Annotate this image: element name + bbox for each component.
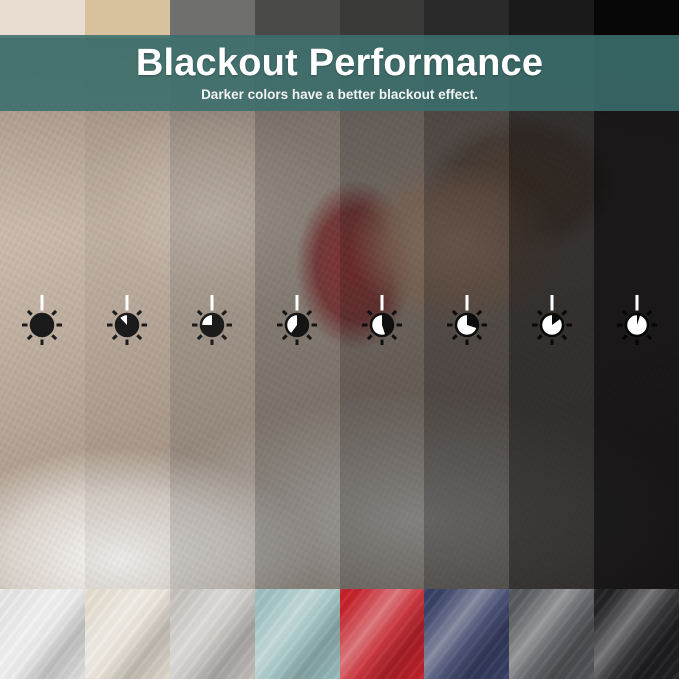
sun-brightness-icon bbox=[85, 285, 170, 365]
column-white-top-strip bbox=[0, 0, 85, 38]
sun-brightness-icon bbox=[0, 285, 85, 365]
sun-brightness-icon bbox=[340, 285, 425, 365]
column-charcoal-top-strip bbox=[509, 0, 594, 38]
fabric-swatch-row bbox=[0, 589, 679, 679]
column-grey-fabric-swatch bbox=[170, 589, 255, 679]
blackout-performance-infographic: Blackout Performance Darker colors have … bbox=[0, 0, 679, 679]
column-grey-top-strip bbox=[170, 0, 255, 38]
swatch-sheen bbox=[340, 589, 425, 679]
header-banner: Blackout Performance Darker colors have … bbox=[0, 35, 679, 111]
swatch-sheen bbox=[424, 589, 509, 679]
swatch-sheen bbox=[594, 589, 679, 679]
sun-brightness-icon bbox=[255, 285, 340, 365]
sun-icon-row bbox=[0, 285, 679, 365]
column-black-top-strip bbox=[594, 0, 679, 38]
sun-brightness-icon bbox=[424, 285, 509, 365]
column-teal-top-strip bbox=[255, 0, 340, 38]
column-red-top-strip bbox=[340, 0, 425, 38]
sun-brightness-icon bbox=[594, 285, 679, 365]
column-red-fabric-swatch bbox=[340, 589, 425, 679]
column-white-fabric-swatch bbox=[0, 589, 85, 679]
column-navy-top-strip bbox=[424, 0, 509, 38]
swatch-sheen bbox=[170, 589, 255, 679]
swatch-sheen bbox=[509, 589, 594, 679]
page-title: Blackout Performance bbox=[136, 44, 543, 82]
top-color-strip-row bbox=[0, 0, 679, 38]
sun-brightness-icon bbox=[509, 285, 594, 365]
column-navy-fabric-swatch bbox=[424, 589, 509, 679]
column-black-fabric-swatch bbox=[594, 589, 679, 679]
column-beige-fabric-swatch bbox=[85, 589, 170, 679]
swatch-sheen bbox=[85, 589, 170, 679]
column-charcoal-fabric-swatch bbox=[509, 589, 594, 679]
page-subtitle: Darker colors have a better blackout eff… bbox=[201, 88, 478, 102]
column-beige-top-strip bbox=[85, 0, 170, 38]
swatch-sheen bbox=[255, 589, 340, 679]
column-teal-fabric-swatch bbox=[255, 589, 340, 679]
swatch-sheen bbox=[0, 589, 85, 679]
sun-brightness-icon bbox=[170, 285, 255, 365]
